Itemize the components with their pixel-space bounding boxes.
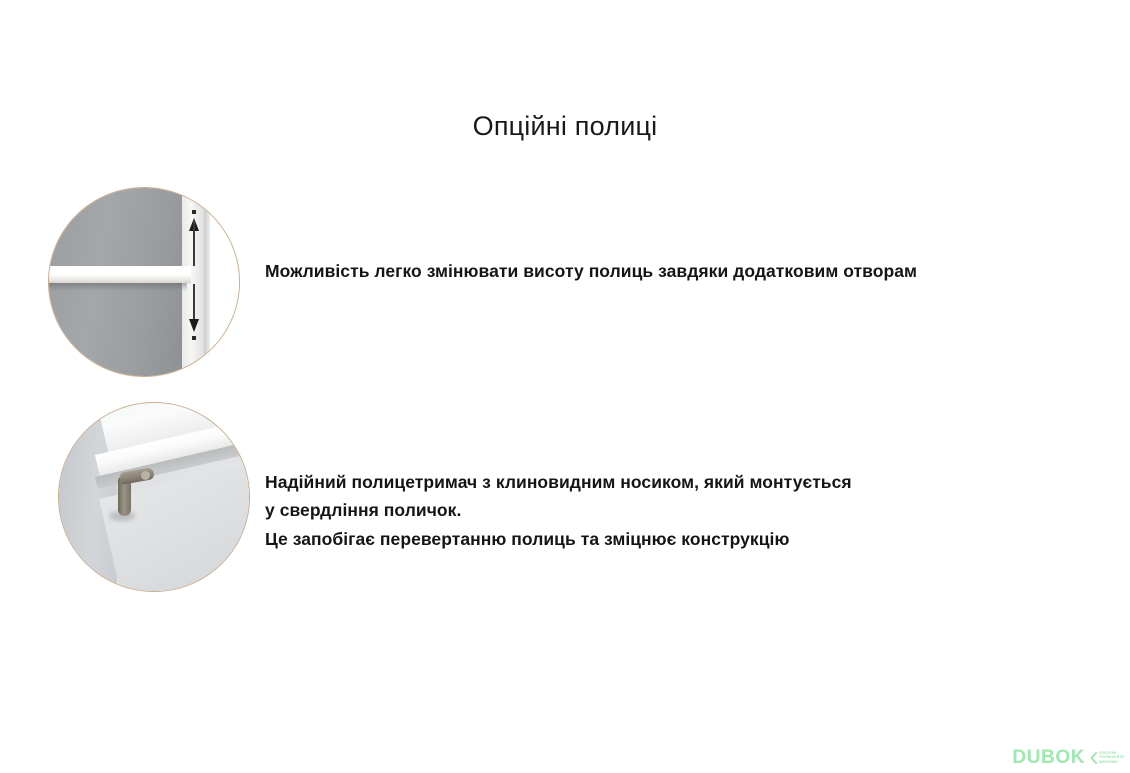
brand-tagline-line: МЕБЛЯМИ — [1099, 760, 1124, 765]
feature-block-shelf-height — [48, 187, 240, 377]
feature-block-shelf-holder — [58, 402, 250, 592]
shelf-board — [49, 266, 191, 283]
shelf-holder-pin-icon — [114, 470, 154, 518]
arrow-down-icon — [193, 284, 195, 340]
feature-line: Надійний полицетримач з клиновидним носи… — [265, 468, 1075, 496]
brand-logo: DUBOK ПОКУПКИ ПОРІВНЮЙТЕ МЕБЛЯМИ — [1012, 748, 1124, 767]
feature-line: Можливість легко змінювати висоту полиць… — [265, 257, 1115, 285]
arrow-up-icon — [193, 210, 195, 266]
feature-text-shelf-holder: Надійний полицетримач з клиновидним носи… — [265, 468, 1075, 553]
brand-tagline: ПОКУПКИ ПОРІВНЮЙТЕ МЕБЛЯМИ — [1099, 751, 1124, 765]
brand-mark: ПОКУПКИ ПОРІВНЮЙТЕ МЕБЛЯМИ — [1090, 751, 1124, 765]
feature-text-shelf-height: Можливість легко змінювати висоту полиць… — [265, 257, 1115, 285]
feature-line: Це запобігає перевертанню полиць та зміц… — [265, 525, 1075, 553]
chevron-left-icon — [1090, 752, 1097, 764]
brand-name: DUBOK — [1012, 748, 1085, 767]
shelf-shadow — [49, 283, 187, 291]
slide-canvas: Опційні полиці Можливість легко змінюват… — [0, 0, 1130, 773]
feature-line: у свердління поличок. — [265, 496, 1075, 524]
photo-background — [210, 188, 239, 376]
shelf-height-adjustment-photo — [48, 187, 240, 377]
page-title: Опційні полиці — [0, 110, 1130, 142]
shelf-holder-photo — [58, 402, 250, 592]
